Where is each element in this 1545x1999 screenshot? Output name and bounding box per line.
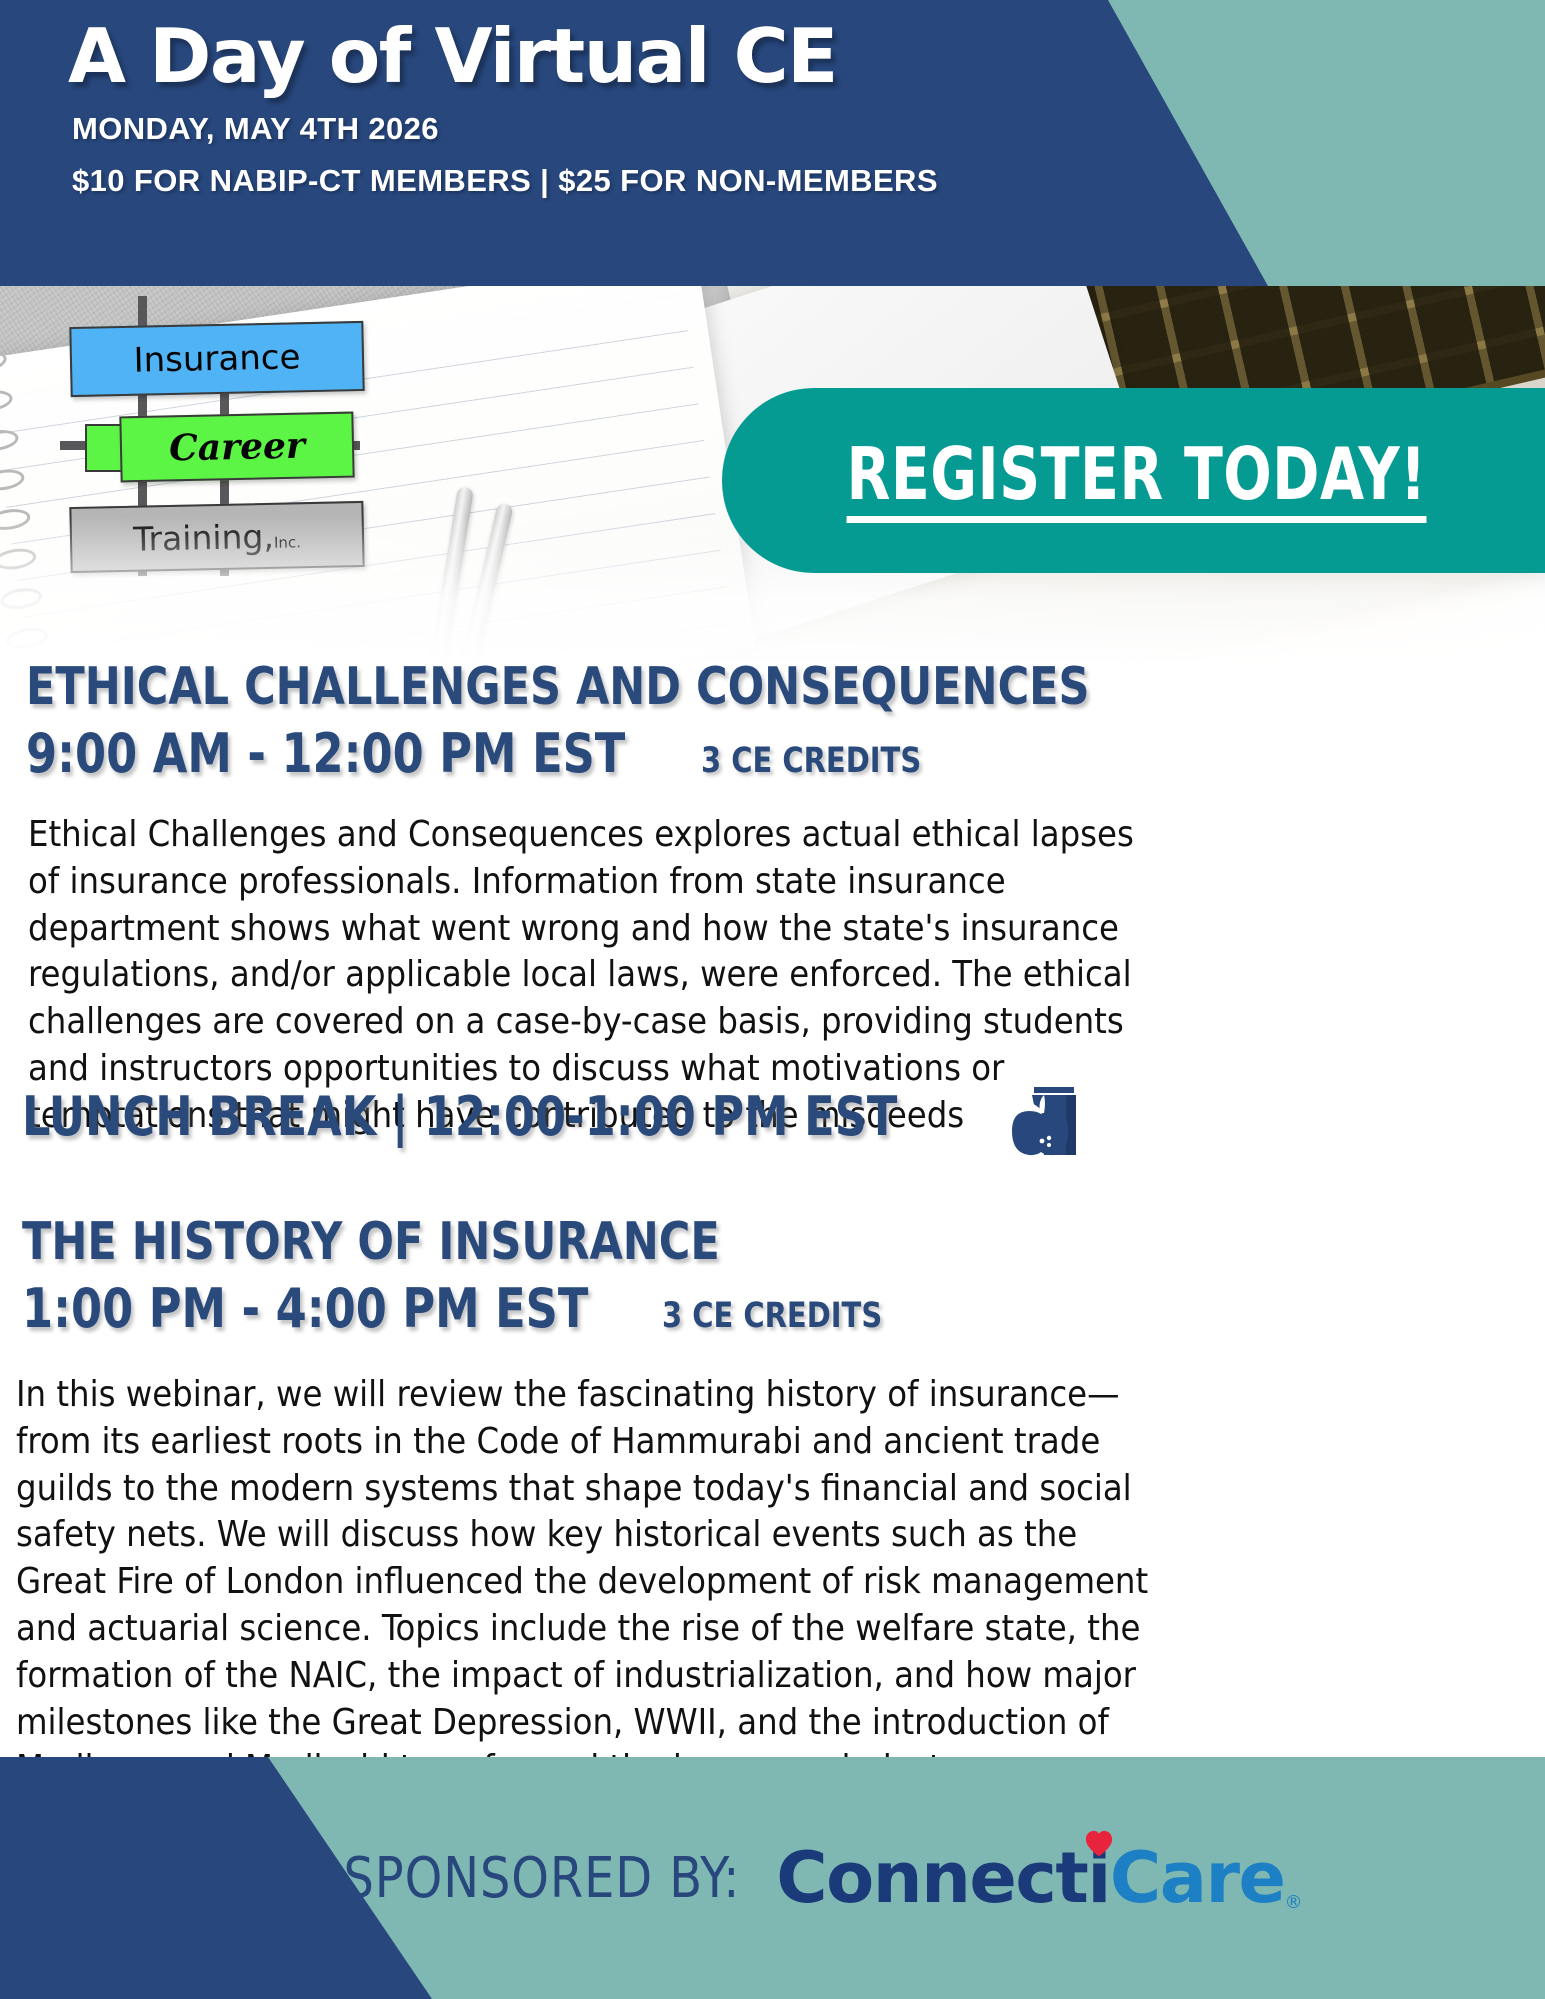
page-title: A Day of Virtual CE xyxy=(68,18,1118,95)
connecticare-logo: Connecti Care ® xyxy=(776,1837,1302,1919)
connecticare-name-part2: Care xyxy=(1110,1837,1285,1919)
session-2-time: 1:00 PM - 4:00 PM EST xyxy=(22,1281,588,1336)
header-text-group: A Day of Virtual CE MONDAY, MAY 4TH 2026… xyxy=(68,18,1118,199)
logo-label-career: Career xyxy=(169,425,306,470)
session-1-time: 9:00 AM - 12:00 PM EST xyxy=(26,726,625,781)
sponsored-by-label: SPONSORED BY: xyxy=(343,1846,740,1911)
logo-label-insurance: Insurance xyxy=(133,337,301,380)
session-2-credits: 3 CE CREDITS xyxy=(662,1299,882,1334)
connecticare-name-part1: Connecti xyxy=(776,1837,1110,1919)
logo-box-career: Career xyxy=(119,412,354,483)
lunch-bag-apple-icon xyxy=(1004,1075,1082,1159)
header-banner: A Day of Virtual CE MONDAY, MAY 4TH 2026… xyxy=(0,0,1545,286)
event-date: MONDAY, MAY 4TH 2026 xyxy=(72,111,1118,147)
heart-icon xyxy=(1084,1829,1114,1859)
session-2-time-row: 1:00 PM - 4:00 PM EST 3 CE CREDITS xyxy=(22,1281,901,1336)
footer-content: SPONSORED BY: Connecti Care ® xyxy=(0,1757,1545,1999)
session-1-credits: 3 CE CREDITS xyxy=(701,744,921,779)
register-today-label: REGISTER TODAY! xyxy=(847,438,1427,523)
session-2-title: THE HISTORY OF INSURANCE xyxy=(22,1215,720,1270)
session-2-title-wrap: THE HISTORY OF INSURANCE xyxy=(22,1215,780,1270)
flyer-page: A Day of Virtual CE MONDAY, MAY 4TH 2026… xyxy=(0,0,1545,1999)
registered-trademark-mark: ® xyxy=(1284,1892,1302,1919)
session-1-title-wrap: ETHICAL CHALLENGES AND CONSEQUENCES xyxy=(26,660,1182,715)
lunch-break-label: LUNCH BREAK | 12:00-1:00 PM EST xyxy=(22,1090,897,1144)
session-1-title: ETHICAL CHALLENGES AND CONSEQUENCES xyxy=(26,660,1090,715)
session-1-time-row: 9:00 AM - 12:00 PM EST 3 CE CREDITS xyxy=(26,726,941,781)
event-pricing: $10 FOR NABIP-CT MEMBERS | $25 FOR NON-M… xyxy=(72,163,1118,199)
lunch-break-row: LUNCH BREAK | 12:00-1:00 PM EST xyxy=(22,1075,1082,1159)
register-today-button[interactable]: REGISTER TODAY! xyxy=(722,388,1545,573)
footer-banner: SPONSORED BY: Connecti Care ® xyxy=(0,1757,1545,1999)
logo-box-insurance: Insurance xyxy=(69,321,364,397)
